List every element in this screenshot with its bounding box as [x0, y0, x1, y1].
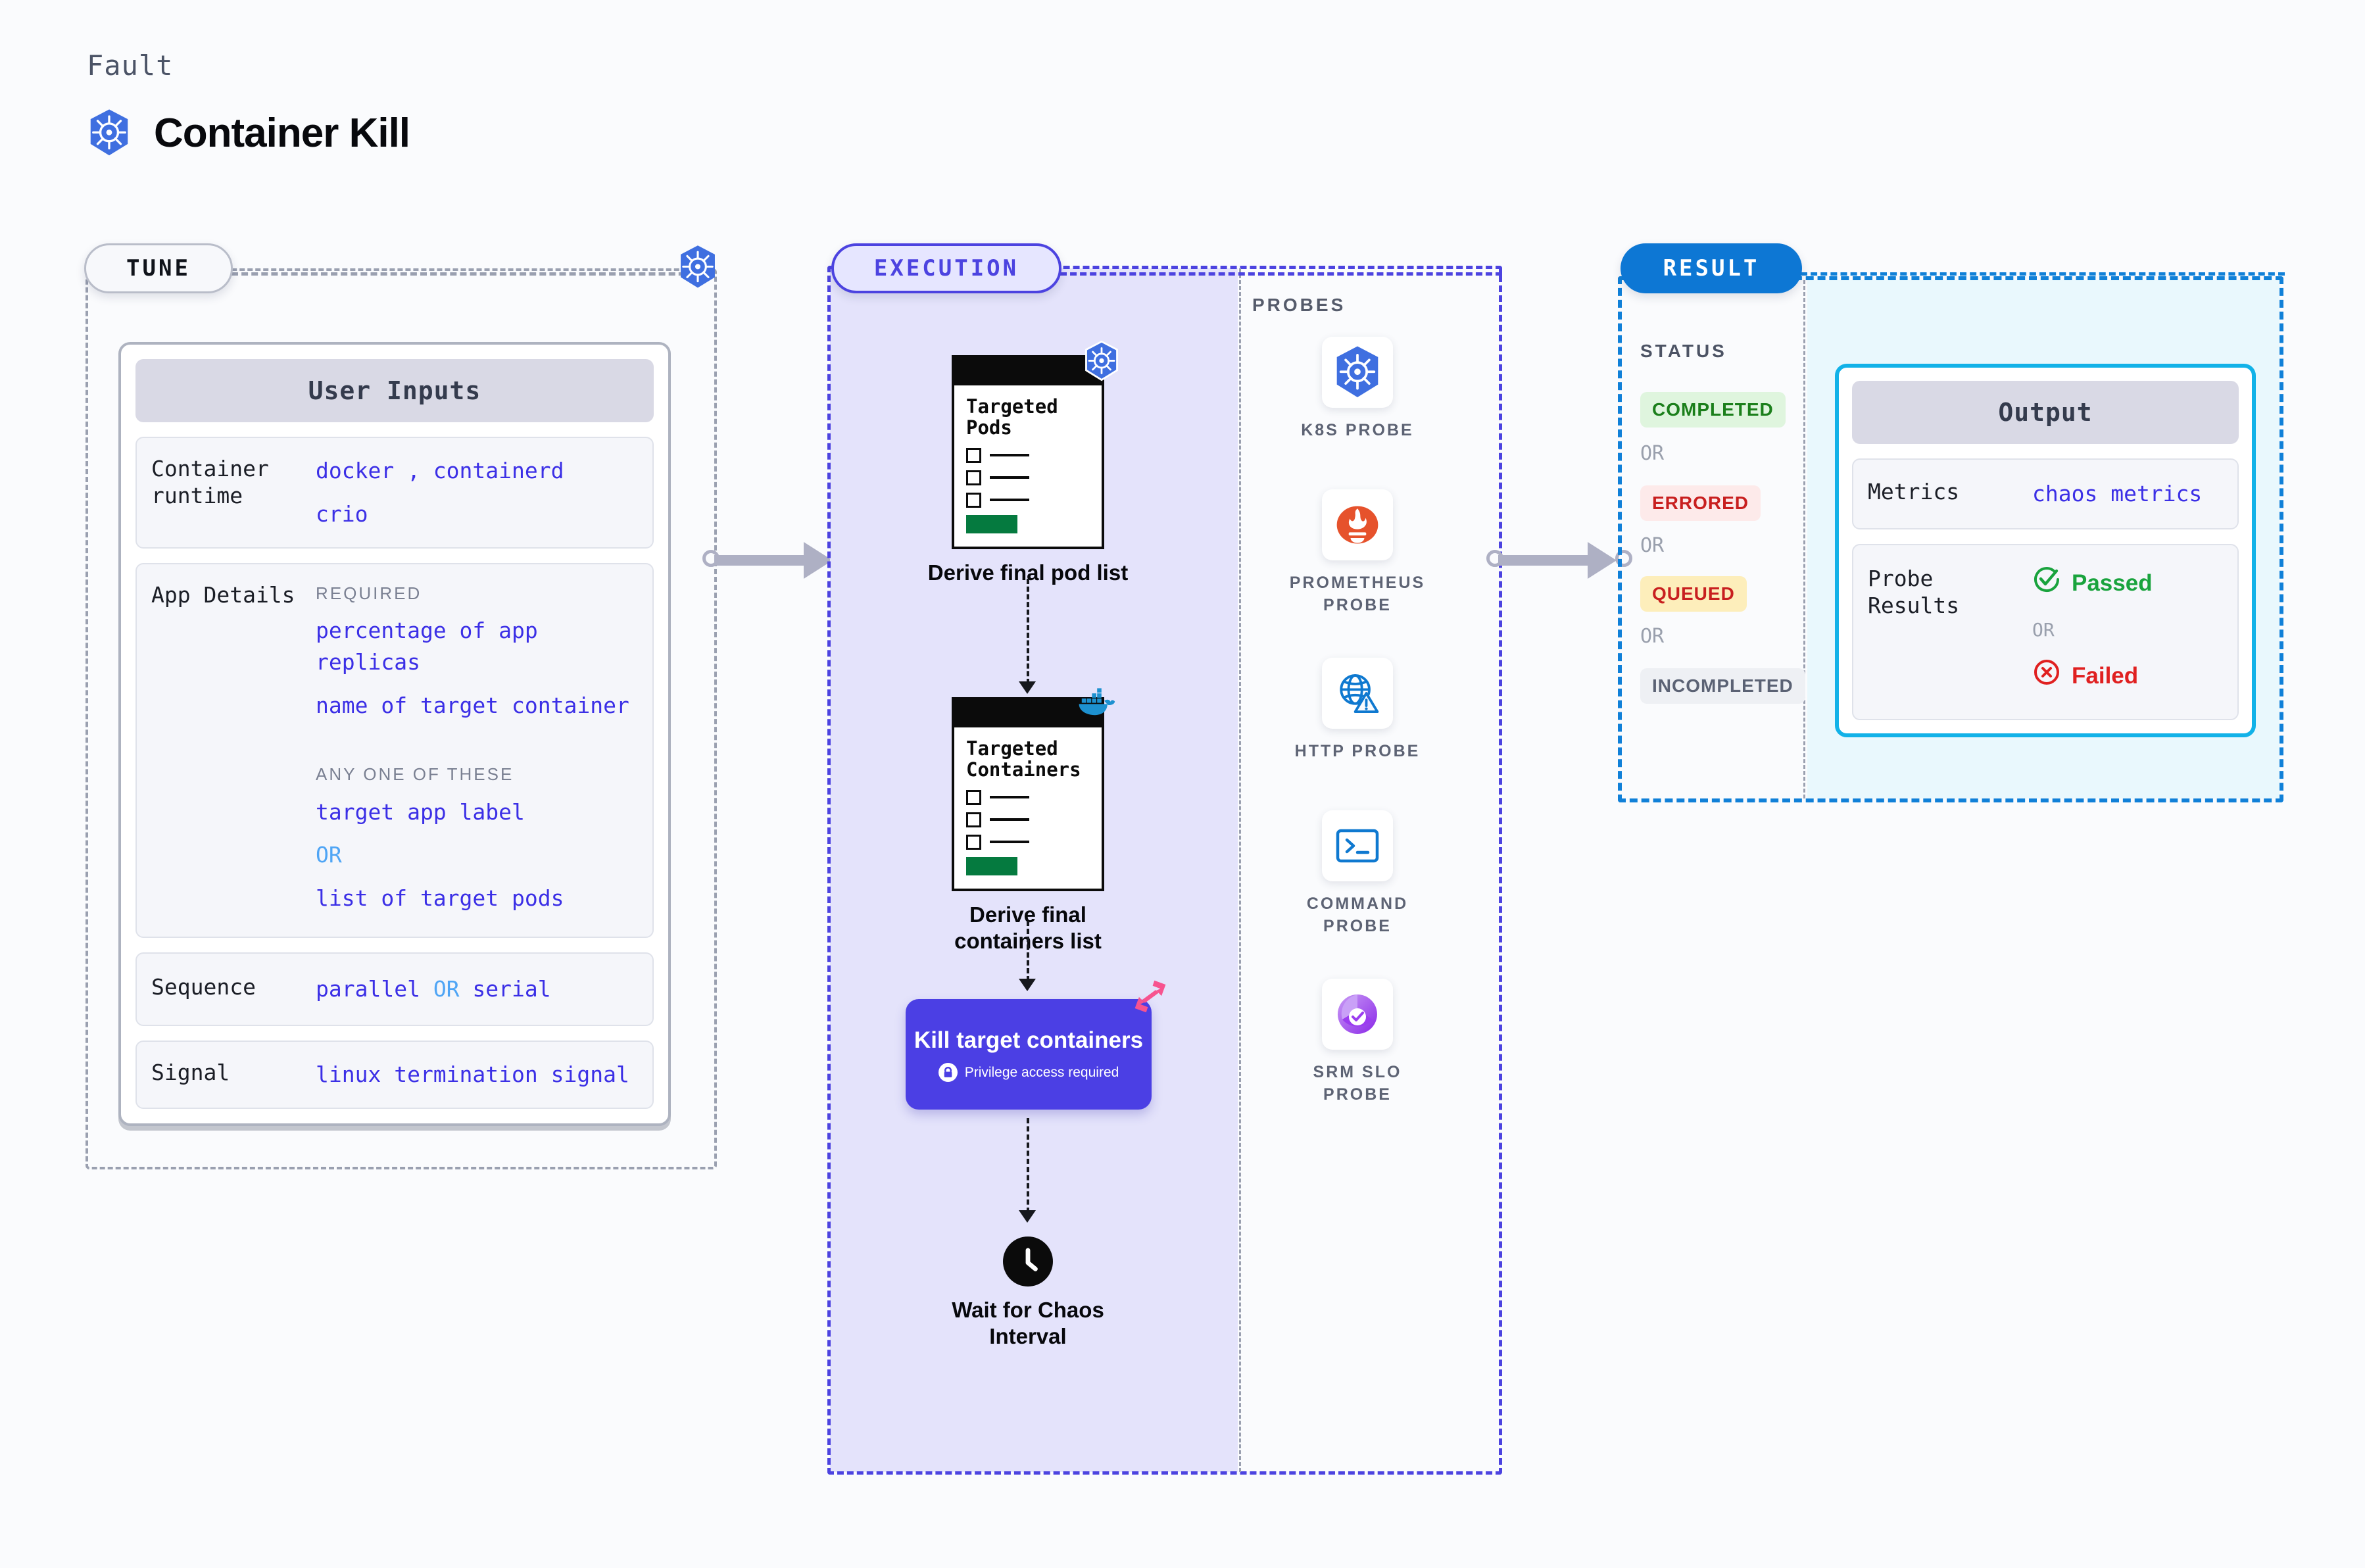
- probe-command[interactable]: COMMAND PROBE: [1279, 810, 1436, 938]
- value-runtime-1: docker , containerd: [316, 455, 638, 487]
- list-line: [990, 454, 1029, 456]
- fault-eyebrow-label: Fault: [87, 49, 173, 82]
- row-probe-results: ProbeResults Passed OR: [1852, 544, 2239, 720]
- status-or-2: OR: [1640, 534, 1664, 557]
- row-value-app-details: REQUIRED percentage of app replicas name…: [316, 581, 638, 914]
- label-any-one-of-these: ANY ONE OF THESE: [316, 762, 638, 787]
- tune-pill-connector: [232, 272, 705, 276]
- row-key-probe-results: ProbeResults: [1868, 565, 2032, 695]
- value-or-1: OR: [316, 839, 638, 871]
- kill-note-text: Privilege access required: [965, 1065, 1119, 1081]
- label-required: REQUIRED: [316, 581, 638, 606]
- user-inputs-title: User Inputs: [135, 359, 654, 422]
- checkbox-item: [966, 470, 981, 485]
- result-pill-connector: [1801, 272, 2285, 276]
- kubernetes-icon: [87, 109, 132, 157]
- probe-label-command: COMMAND PROBE: [1279, 893, 1436, 938]
- probe-label-k8s: K8S PROBE: [1279, 420, 1436, 442]
- flow-connector-3: [1027, 1118, 1029, 1213]
- kubernetes-icon: [1322, 337, 1393, 408]
- tune-kubernetes-icon: [677, 245, 718, 289]
- checkbox-item: [966, 493, 981, 508]
- value-list-target-pods: list of target pods: [316, 883, 638, 914]
- row-key-sequence: Sequence: [151, 973, 316, 1005]
- terminal-icon: [1322, 810, 1393, 881]
- row-key-signal: Signal: [151, 1059, 316, 1090]
- list-line: [990, 818, 1029, 821]
- flow-arrow-1: [1019, 681, 1036, 694]
- kill-target-containers-node[interactable]: Kill target containers Privilege access …: [906, 999, 1152, 1110]
- kubernetes-icon: [1083, 341, 1120, 385]
- probe-result-failed: Failed: [2072, 660, 2138, 693]
- tune-pill[interactable]: TUNE: [84, 243, 233, 293]
- value-target-container: name of target container: [316, 690, 638, 722]
- list-line: [990, 476, 1029, 479]
- row-container-runtime: Containerruntime docker , containerd cri…: [135, 437, 654, 549]
- caption-wait-chaos-interval: Wait for Chaos Interval: [926, 1297, 1130, 1349]
- probe-label-http: HTTP PROBE: [1279, 741, 1436, 763]
- probe-prometheus[interactable]: PROMETHEUS PROBE: [1279, 489, 1436, 617]
- x-circle-icon: [2032, 658, 2061, 695]
- execution-pill-connector: [1060, 272, 1502, 276]
- probe-label-prometheus: PROMETHEUS PROBE: [1279, 572, 1436, 617]
- targeted-containers-card: Targeted Containers: [952, 697, 1104, 891]
- node-derive-pod-list: Targeted Pods Derive final pod list: [926, 355, 1130, 586]
- row-sequence: Sequence parallel OR serial: [135, 952, 654, 1026]
- flow-arrow-3: [1019, 1210, 1036, 1223]
- status-badge-completed: COMPLETED: [1640, 392, 1786, 428]
- probes-section-label: PROBES: [1252, 295, 1346, 316]
- checkbox-item: [966, 790, 981, 805]
- probe-srm-slo[interactable]: SRM SLO PROBE: [1279, 979, 1436, 1106]
- value-sequence-or: OR: [433, 976, 460, 1002]
- value-app-replicas: percentage of app replicas: [316, 615, 638, 678]
- row-app-details: App Details REQUIRED percentage of app r…: [135, 563, 654, 938]
- row-key-app-details: App Details: [151, 581, 316, 914]
- http-globe-icon: [1322, 658, 1393, 729]
- clock-icon: [1003, 1237, 1053, 1286]
- kill-node-note: Privilege access required: [939, 1063, 1119, 1082]
- probe-label-srm-slo: SRM SLO PROBE: [1279, 1062, 1436, 1106]
- page-title-row: Container Kill: [87, 109, 410, 157]
- value-sequence-parallel: parallel: [316, 976, 433, 1002]
- list-line: [990, 499, 1029, 501]
- targeted-pods-title: Targeted Pods: [966, 396, 1090, 439]
- result-status-label: STATUS: [1640, 341, 1727, 362]
- value-runtime-2: crio: [316, 499, 638, 530]
- row-value-probe-results: Passed OR Failed: [2032, 565, 2223, 695]
- status-or-1: OR: [1640, 442, 1664, 465]
- flow-arrow-2: [1019, 979, 1036, 991]
- check-circle-icon: [2032, 565, 2061, 602]
- node-wait-chaos-interval: Wait for Chaos Interval: [926, 1237, 1130, 1349]
- execution-pill[interactable]: EXECUTION: [831, 243, 1061, 293]
- row-value-sequence: parallel OR serial: [316, 973, 638, 1005]
- row-value-container-runtime: docker , containerd crio: [316, 455, 638, 530]
- value-target-app-label: target app label: [316, 796, 638, 828]
- user-inputs-card: User Inputs Containerruntime docker , co…: [118, 342, 671, 1126]
- status-badge-incompleted: INCOMPLETED: [1640, 668, 1805, 704]
- srm-slo-icon: [1322, 979, 1393, 1050]
- probe-http[interactable]: HTTP PROBE: [1279, 658, 1436, 763]
- prometheus-icon: [1322, 489, 1393, 560]
- targeted-pods-card: Targeted Pods: [952, 355, 1104, 549]
- page-title: Container Kill: [154, 110, 410, 157]
- harness-icon: [1133, 979, 1168, 1017]
- output-card: Output Metrics chaos metrics ProbeResult…: [1835, 364, 2256, 737]
- row-key-metrics: Metrics: [1868, 478, 2032, 510]
- row-signal: Signal linux termination signal: [135, 1041, 654, 1109]
- checkbox-item: [966, 448, 981, 463]
- probe-result-or: OR: [2032, 617, 2223, 644]
- green-indicator-bar: [966, 857, 1017, 875]
- row-value-metrics: chaos metrics: [2032, 478, 2223, 510]
- status-or-3: OR: [1640, 625, 1664, 648]
- row-metrics: Metrics chaos metrics: [1852, 458, 2239, 529]
- row-key-container-runtime: Containerruntime: [151, 455, 316, 530]
- probes-divider: [1239, 268, 1241, 1472]
- status-badge-queued: QUEUED: [1640, 576, 1747, 612]
- lock-icon: [939, 1063, 958, 1082]
- kill-node-title: Kill target containers: [914, 1027, 1143, 1054]
- row-value-signal: linux termination signal: [316, 1059, 638, 1090]
- list-line: [990, 841, 1029, 843]
- value-sequence-serial: serial: [460, 976, 551, 1002]
- node-derive-containers-list: Targeted Containers Derive final contain…: [926, 697, 1130, 954]
- output-card-title: Output: [1852, 381, 2239, 444]
- docker-icon: [1077, 687, 1116, 722]
- checkbox-item: [966, 812, 981, 827]
- flow-connector-1: [1027, 579, 1029, 684]
- probe-k8s[interactable]: K8S PROBE: [1279, 337, 1436, 442]
- result-pill[interactable]: RESULT: [1621, 243, 1802, 293]
- green-indicator-bar: [966, 515, 1017, 533]
- checkbox-item: [966, 835, 981, 850]
- probe-result-passed: Passed: [2072, 567, 2153, 600]
- flow-connector-2: [1027, 921, 1029, 981]
- list-line: [990, 796, 1029, 798]
- result-status-divider: [1803, 280, 1805, 798]
- targeted-containers-title: Targeted Containers: [966, 738, 1090, 781]
- status-badge-errored: ERRORED: [1640, 485, 1761, 521]
